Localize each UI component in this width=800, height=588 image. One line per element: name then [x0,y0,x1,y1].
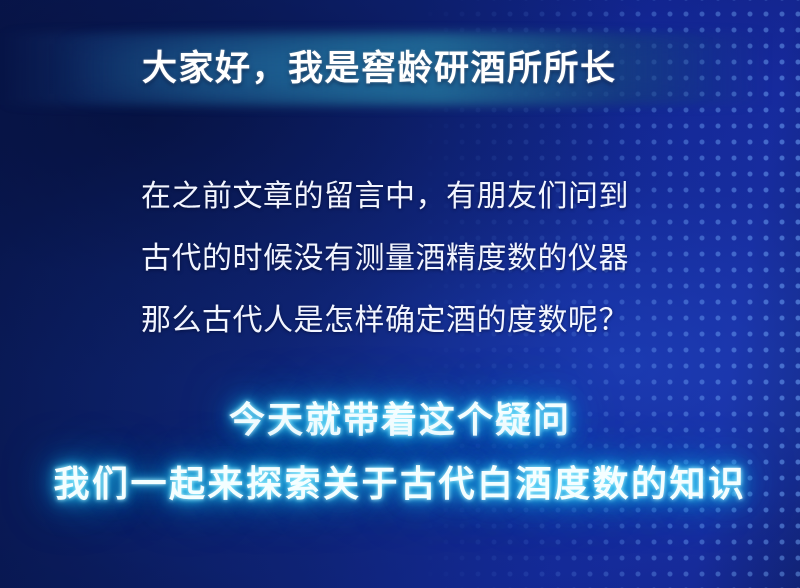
body-line-2: 古代的时候没有测量酒精度数的仪器 [141,228,741,290]
slide-canvas: 大家好，我是窖龄研酒所所长 在之前文章的留言中，有朋友们问到 古代的时候没有测量… [0,0,800,588]
body-line-3: 那么古代人是怎样确定酒的度数呢？ [141,290,741,352]
body-line-1: 在之前文章的留言中，有朋友们问到 [141,166,741,228]
footer-line-2: 我们一起来探索关于古代白酒度数的知识 [0,452,800,516]
footer-line-1: 今天就带着这个疑问 [0,388,800,452]
headline-title: 大家好，我是窖龄研酒所所长 [142,48,617,90]
footer-callout: 今天就带着这个疑问 我们一起来探索关于古代白酒度数的知识 [0,388,800,516]
body-paragraph: 在之前文章的留言中，有朋友们问到 古代的时候没有测量酒精度数的仪器 那么古代人是… [141,166,741,352]
